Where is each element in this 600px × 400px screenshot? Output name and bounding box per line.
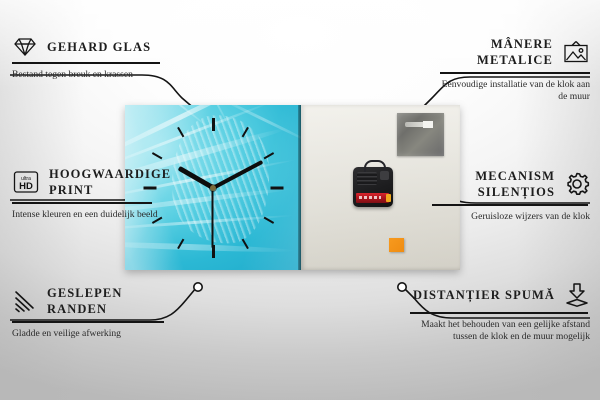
callout-rule <box>432 204 588 206</box>
beveled-edges-icon <box>12 289 38 313</box>
callout-description: Eenvoudige installatie van de klok aan d… <box>440 79 590 105</box>
gear-icon <box>564 171 590 197</box>
callout-geslepen-randen: GESLEPEN RANDEN Gladde en veilige afwerk… <box>12 285 172 340</box>
product-image <box>125 105 460 270</box>
hanger-keyhole-slot <box>405 122 433 127</box>
mechanism-knob <box>380 171 389 180</box>
metal-hanger-plate <box>397 113 444 156</box>
callout-description: Maakt het behouden van een gelijke afsta… <box>410 319 590 345</box>
svg-text:HD: HD <box>19 181 33 192</box>
callout-distantier-spuma: DISTANȚIER SPUMĂ Maakt het behouden van … <box>410 282 590 344</box>
clock-center-cap <box>210 185 216 191</box>
clock-minute-hand <box>212 159 263 189</box>
callout-rule <box>440 72 590 74</box>
callout-rule <box>410 312 588 314</box>
callout-title: MECANISM SILENȚIOS <box>432 168 555 200</box>
callout-mecanism-silentios: MECANISM SILENȚIOS Geruisloze wijzers va… <box>432 168 590 223</box>
callout-description: Bestand tegen breuk en krassen <box>12 69 162 82</box>
picture-frame-icon <box>562 40 590 64</box>
mechanism-grill <box>357 172 377 185</box>
callout-description: Gladde en veilige afwerking <box>12 328 172 341</box>
infographic-canvas: GEHARD GLAS Bestand tegen breuk en krass… <box>0 0 600 400</box>
callout-description: Intense kleuren en een duidelijk beeld <box>12 209 162 222</box>
foam-spacer <box>389 238 404 252</box>
callout-manere-metalice: MÂNERE METALICE Eenvoudige installatie v… <box>440 36 590 104</box>
spacer-arrow-icon <box>564 282 590 308</box>
callout-hoogwaardige-print: ultra HD HOOGWAARDIGE PRINT Intense kleu… <box>12 166 162 221</box>
callout-rule <box>12 321 164 323</box>
diamond-icon <box>12 36 38 58</box>
clock-second-hand <box>212 188 214 248</box>
callout-title: MÂNERE METALICE <box>440 36 553 68</box>
callout-gehard-glas: GEHARD GLAS Bestand tegen breuk en krass… <box>12 36 162 81</box>
callout-title: DISTANȚIER SPUMĂ <box>413 287 555 303</box>
callout-rule <box>12 62 160 64</box>
ultra-hd-icon: ultra HD <box>12 170 40 194</box>
callout-rule <box>12 202 152 204</box>
callout-title: HOOGWAARDIGE PRINT <box>49 166 171 198</box>
battery <box>356 193 389 203</box>
clock-hour-hand <box>177 165 214 189</box>
callout-title: GESLEPEN RANDEN <box>47 285 172 317</box>
callout-title: GEHARD GLAS <box>47 39 151 55</box>
clock-mechanism-box <box>353 167 393 207</box>
callout-description: Geruisloze wijzers van de klok <box>432 211 590 224</box>
